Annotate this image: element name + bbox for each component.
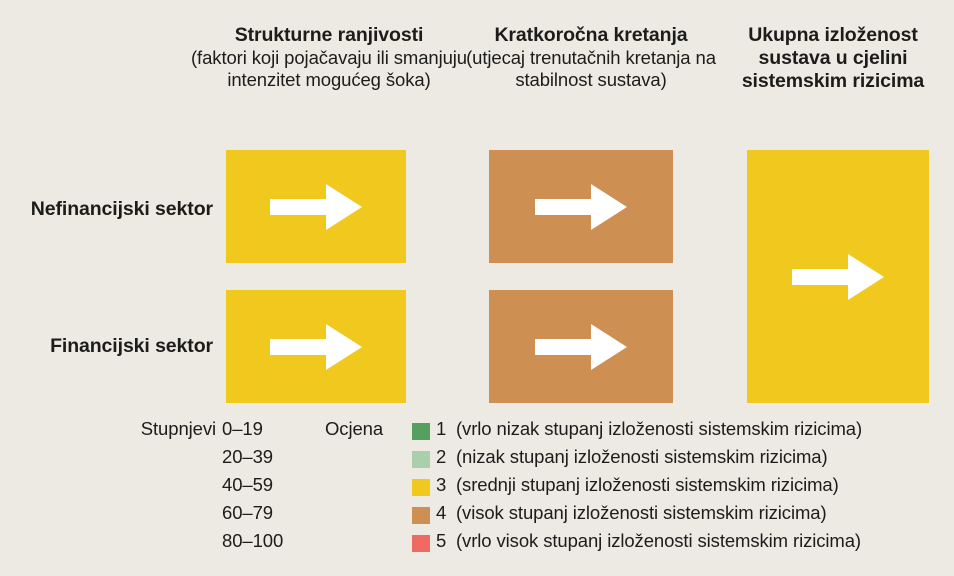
row-label-financial-sector: Financijski sektor [0,335,213,358]
legend-grade-number: 1 [436,418,454,440]
matrix-cell-total-exposure [747,150,929,403]
column-header-short-term-developments: Kratkoročna kretanja (utjecaj trenutačni… [462,24,720,91]
legend-color-swatch-1 [412,423,430,440]
column-header-subtitle: (faktori koji pojačavaju ili smanjuju in… [190,47,468,91]
column-header-title: Strukturne ranjivosti [190,24,468,47]
legend-row: 40–59 3 (srednji stupanj izloženosti sis… [0,474,954,502]
arrow-right-icon [535,182,627,232]
matrix-cell-nonfinancial-shortterm [489,150,673,263]
legend-color-swatch-5 [412,535,430,552]
column-headers: Strukturne ranjivosti (faktori koji poja… [0,0,954,150]
column-header-title: Kratkoročna kretanja [462,24,720,47]
row-label-nonfinancial-sector: Nefinancijski sektor [0,198,213,221]
column-header-structural-vulnerabilities: Strukturne ranjivosti (faktori koji poja… [190,24,468,91]
legend-range: 0–19 [222,418,318,440]
legend-color-swatch-2 [412,451,430,468]
legend-grade-number: 3 [436,474,454,496]
legend: Stupnjevi 0–19 Ocjena 1 (vrlo nizak stup… [0,414,954,576]
legend-levels-label: Stupnjevi [20,418,216,440]
legend-color-swatch-3 [412,479,430,496]
legend-range: 60–79 [222,502,318,524]
legend-grade-description: (vrlo visok stupanj izloženosti sistemsk… [456,530,946,552]
arrow-right-icon [270,182,362,232]
arrow-right-icon [535,322,627,372]
legend-grade-description: (visok stupanj izloženosti sistemskim ri… [456,502,946,524]
legend-grade-number: 4 [436,502,454,524]
legend-range: 40–59 [222,474,318,496]
legend-color-swatch-4 [412,507,430,524]
column-header-subtitle: (utjecaj trenutačnih kretanja na stabiln… [462,47,720,91]
legend-grade-number: 2 [436,446,454,468]
legend-grade-description: (srednji stupanj izloženosti sistemskim … [456,474,946,496]
legend-range: 20–39 [222,446,318,468]
legend-grade-description: (nizak stupanj izloženosti sistemskim ri… [456,446,946,468]
matrix-cell-nonfinancial-structural [226,150,406,263]
arrow-right-icon [792,252,884,302]
legend-grade-number: 5 [436,530,454,552]
legend-row: 20–39 2 (nizak stupanj izloženosti siste… [0,446,954,474]
arrow-right-icon [270,322,362,372]
legend-row: Stupnjevi 0–19 Ocjena 1 (vrlo nizak stup… [0,418,954,446]
column-header-title: Ukupna izloženost sustava u cjelini sist… [722,24,944,93]
legend-range: 80–100 [222,530,318,552]
matrix-cell-financial-shortterm [489,290,673,403]
legend-grade-description: (vrlo nizak stupanj izloženosti sistemsk… [456,418,946,440]
legend-row: 80–100 5 (vrlo visok stupanj izloženosti… [0,530,954,558]
matrix-cell-financial-structural [226,290,406,403]
legend-grade-label: Ocjena [325,418,401,440]
legend-row: 60–79 4 (visok stupanj izloženosti siste… [0,502,954,530]
column-header-total-exposure: Ukupna izloženost sustava u cjelini sist… [722,24,944,93]
